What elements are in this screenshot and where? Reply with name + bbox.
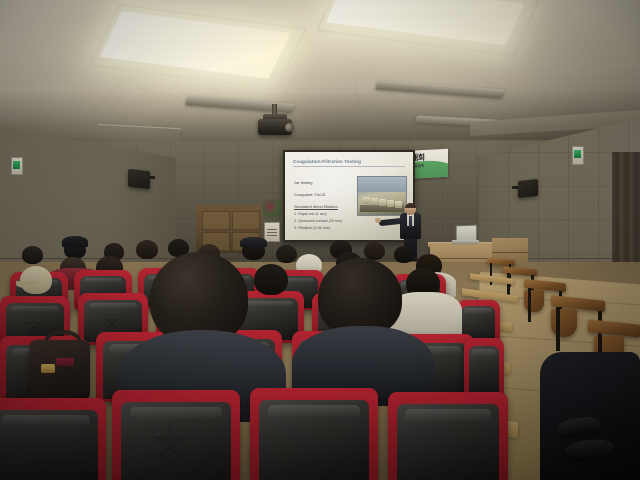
laptop-base (452, 240, 479, 244)
slide-list-item-1: 1. Rapid mix (1 sec) (294, 212, 327, 216)
foreground-audience-member (540, 352, 640, 480)
head (318, 258, 402, 336)
slide-photo-background (358, 177, 406, 192)
slide-line-3: Simulated direct filtration (294, 204, 338, 209)
window-curtain (612, 152, 640, 264)
emergency-exit-sign-icon (11, 157, 23, 175)
presenter-head (405, 203, 416, 215)
bag-clasp-icon (41, 364, 55, 373)
slide-photo-jar (395, 201, 402, 208)
door-panel (232, 211, 260, 230)
projection-screen: Coagulation-Filtration Testing Jar testi… (285, 152, 413, 240)
wall-notice-sign (264, 222, 280, 242)
bag-strap (56, 358, 74, 366)
slide-photo (357, 176, 407, 216)
head (276, 245, 297, 263)
slide-photo-jar (379, 199, 386, 206)
tablet-desk-seat (524, 290, 544, 312)
cap-brim-icon (16, 281, 38, 288)
door-panel (202, 211, 230, 230)
emergency-exit-sign-icon (572, 146, 584, 165)
projector-lens-icon (285, 123, 294, 132)
presenter-tie (409, 216, 412, 227)
slide-title: Coagulation-Filtration Testing (293, 159, 361, 164)
lecture-hall-photo: 술대회 대한기술협회 Coagulation-Filtration Testin… (0, 0, 640, 480)
baseball-cap-icon (62, 236, 88, 247)
head (254, 264, 288, 295)
slide-photo-jar (387, 200, 394, 207)
slide-list-item-3: 3. Filtration (0.45 mm) (294, 226, 330, 230)
wall-speaker-icon (128, 169, 150, 189)
head (22, 246, 43, 264)
baseball-cap-icon (240, 237, 267, 247)
slide-photo-jar (371, 198, 378, 205)
flower-arrangement (262, 199, 282, 217)
handbag (30, 340, 90, 402)
slide-list-item-2: 2. Quiescent contact (20 sec) (294, 219, 342, 223)
head-with-cap (20, 266, 52, 294)
head (136, 240, 158, 259)
slide-line-2: Coagulant: FeCl3 (294, 192, 325, 197)
cabinet-line (492, 252, 528, 253)
tablet-desk-seat (551, 309, 577, 337)
slide-line-1: Jar testing (294, 180, 312, 185)
presenter-hand (375, 218, 381, 223)
wall-speaker-icon (518, 179, 538, 198)
slide-photo-jar (363, 197, 370, 204)
head (364, 242, 385, 260)
head (394, 246, 414, 263)
slide-title-rule (293, 166, 405, 167)
